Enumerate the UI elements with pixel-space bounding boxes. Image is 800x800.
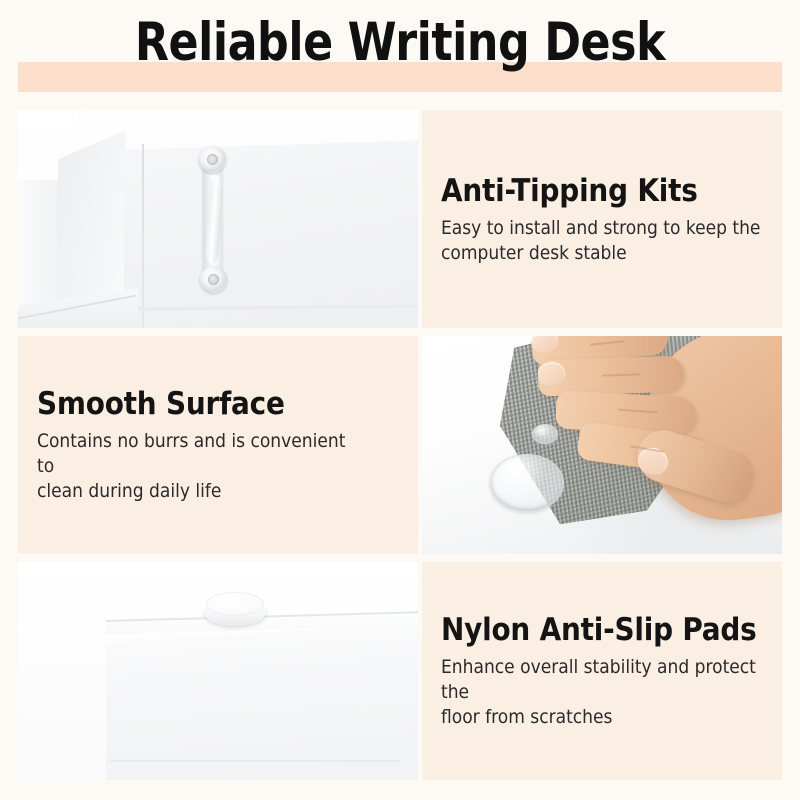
- desk-panel-bottom-line: [110, 760, 400, 762]
- feature-description-line-1: Contains no burrs and is convenient to: [37, 429, 367, 479]
- screw-top-icon: [199, 146, 226, 173]
- anti-tipping-strap: [199, 146, 227, 294]
- feature-image-smooth-surface: [422, 336, 782, 554]
- desk-front-panel: [124, 140, 418, 328]
- desk-edge-highlight: [61, 122, 418, 125]
- feature-description: Easy to install and strong to keep the c…: [441, 216, 764, 266]
- feature-row-nylon-anti-slip-pads: Nylon Anti-Slip Pads Enhance overall sta…: [18, 562, 782, 780]
- feature-text-nylon-anti-slip-pads: Nylon Anti-Slip Pads Enhance overall sta…: [422, 562, 782, 780]
- feature-image-anti-tipping-kits: [18, 110, 418, 328]
- feature-text-smooth-surface: Smooth Surface Contains no burrs and is …: [18, 336, 418, 554]
- feature-text-anti-tipping-kits: Anti-Tipping Kits Easy to install and st…: [422, 110, 782, 328]
- hand: [526, 336, 782, 554]
- desk-panel-front: [106, 616, 418, 780]
- feature-description-line-1: Easy to install and strong to keep the: [441, 216, 764, 241]
- feature-description-line-2: floor from scratches: [441, 705, 764, 730]
- desk-panel-pad-illustration: [18, 562, 418, 780]
- feature-row-smooth-surface: Smooth Surface Contains no burrs and is …: [18, 336, 782, 554]
- feature-heading: Anti-Tipping Kits: [441, 173, 764, 209]
- feature-description-line-2: computer desk stable: [441, 241, 764, 266]
- screw-bottom-icon: [200, 266, 227, 293]
- desk-panel-seam: [142, 144, 144, 328]
- page-title: Reliable Writing Desk: [28, 13, 772, 73]
- feature-heading: Nylon Anti-Slip Pads: [441, 612, 764, 648]
- feature-image-nylon-anti-slip-pads: [18, 562, 418, 780]
- hand-wiping-surface-illustration: [422, 336, 782, 554]
- feature-description: Enhance overall stability and protect th…: [441, 655, 764, 730]
- feature-row-anti-tipping-kits: Anti-Tipping Kits Easy to install and st…: [18, 110, 782, 328]
- desk-corner-strap-illustration: [18, 110, 418, 328]
- feature-heading: Smooth Surface: [37, 386, 400, 422]
- page-header: Reliable Writing Desk: [0, 0, 800, 105]
- infographic-page: Reliable Writing Desk: [0, 0, 800, 800]
- nylon-pad-top-face: [206, 592, 264, 616]
- feature-description: Contains no burrs and is convenient to c…: [37, 429, 367, 504]
- feature-description-line-1: Enhance overall stability and protect th…: [441, 655, 764, 705]
- feature-description-line-2: clean during daily life: [37, 479, 367, 504]
